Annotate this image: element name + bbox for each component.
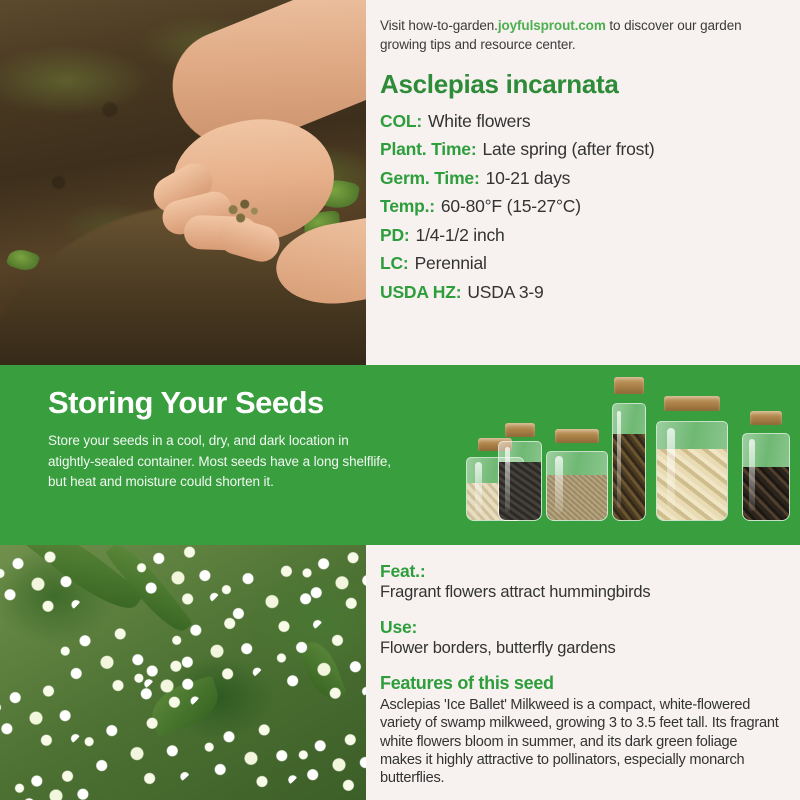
feat-label: Feat.: bbox=[380, 561, 780, 581]
spec-label: USDA HZ: bbox=[380, 284, 461, 302]
description-title: Features of this seed bbox=[380, 673, 780, 694]
spec-label: Germ. Time: bbox=[380, 170, 480, 188]
feat-value: Fragrant flowers attract hummingbirds bbox=[380, 583, 780, 603]
species-name: Asclepias incarnata bbox=[380, 69, 800, 100]
seed-jars-illustration bbox=[460, 375, 800, 535]
seed-jar bbox=[546, 441, 608, 521]
glass-body bbox=[612, 403, 646, 521]
seed-jar bbox=[498, 433, 542, 521]
spec-row: Plant. Time: Late spring (after frost) bbox=[380, 136, 800, 165]
glass-shine bbox=[475, 462, 482, 514]
storing-title: Storing Your Seeds bbox=[48, 387, 398, 418]
use-label: Use: bbox=[380, 617, 780, 637]
glass-shine bbox=[555, 456, 562, 513]
seed-jar bbox=[742, 423, 790, 521]
storing-text-block: Storing Your Seeds Store your seeds in a… bbox=[48, 387, 398, 493]
glass-shine bbox=[749, 439, 755, 511]
spec-label: PD: bbox=[380, 227, 410, 245]
spec-value: 10-21 days bbox=[486, 170, 571, 188]
spec-value: 1/4-1/2 inch bbox=[416, 227, 505, 245]
spec-value: USDA 3-9 bbox=[467, 284, 543, 302]
spec-label: LC: bbox=[380, 255, 409, 273]
top-section: Visit how-to-garden.joyfulsprout.com to … bbox=[0, 0, 800, 365]
glass-shine bbox=[667, 428, 675, 510]
spec-row: USDA HZ: USDA 3-9 bbox=[380, 278, 800, 307]
spec-value: Late spring (after frost) bbox=[482, 141, 654, 159]
storing-body: Store your seeds in a cool, dry, and dar… bbox=[48, 431, 398, 493]
cork-lid bbox=[505, 423, 535, 437]
glass-body bbox=[656, 421, 728, 521]
seed-jar bbox=[612, 391, 646, 521]
spec-row: Germ. Time: 10-21 days bbox=[380, 164, 800, 193]
flower-cluster bbox=[130, 653, 204, 713]
cork-lid bbox=[664, 396, 720, 411]
milkweed-flowers-photo bbox=[0, 545, 366, 800]
bottom-section: Feat.: Fragrant flowers attract hummingb… bbox=[0, 545, 800, 800]
spec-label: Plant. Time: bbox=[380, 141, 476, 159]
flower-cluster bbox=[196, 711, 306, 797]
description-body: Asclepias 'Ice Ballet' Milkweed is a com… bbox=[380, 696, 780, 788]
spec-row: LC: Perennial bbox=[380, 250, 800, 279]
spec-value: Perennial bbox=[415, 255, 487, 273]
plant-info-panel: Visit how-to-garden.joyfulsprout.com to … bbox=[366, 0, 800, 365]
spec-row: PD: 1/4-1/2 inch bbox=[380, 221, 800, 250]
spec-value: 60-80°F (15-27°C) bbox=[441, 198, 581, 216]
cork-lid bbox=[555, 429, 599, 443]
glass-shine bbox=[505, 447, 510, 513]
glass-shine bbox=[617, 411, 621, 508]
palm bbox=[270, 212, 366, 313]
seed-jar bbox=[656, 409, 728, 521]
glass-body bbox=[742, 433, 790, 521]
visit-website-line: Visit how-to-garden.joyfulsprout.com to … bbox=[380, 16, 782, 54]
hands-planting-seeds-photo bbox=[0, 0, 366, 365]
storing-seeds-band: Storing Your Seeds Store your seeds in a… bbox=[0, 365, 800, 545]
use-value: Flower borders, butterfly gardens bbox=[380, 639, 780, 659]
visit-prefix-text: Visit how-to-garden. bbox=[380, 18, 498, 33]
spec-row: Temp.: 60-80°F (15-27°C) bbox=[380, 193, 800, 222]
glass-body bbox=[498, 441, 542, 521]
brand-website-link[interactable]: joyfulsprout.com bbox=[498, 18, 606, 33]
seed-packet-infographic: Visit how-to-garden.joyfulsprout.com to … bbox=[0, 0, 800, 800]
spacer bbox=[380, 603, 780, 617]
cork-lid bbox=[750, 411, 782, 425]
spec-value: White flowers bbox=[428, 113, 530, 131]
features-panel: Feat.: Fragrant flowers attract hummingb… bbox=[366, 545, 800, 800]
spec-label: Temp.: bbox=[380, 198, 435, 216]
cork-lid bbox=[614, 377, 644, 394]
spec-row: COL: White flowers bbox=[380, 107, 800, 136]
spec-list: COL: White flowers Plant. Time: Late spr… bbox=[380, 107, 800, 307]
glass-body bbox=[546, 451, 608, 521]
second-hand bbox=[266, 213, 366, 313]
spec-label: COL: bbox=[380, 113, 422, 131]
